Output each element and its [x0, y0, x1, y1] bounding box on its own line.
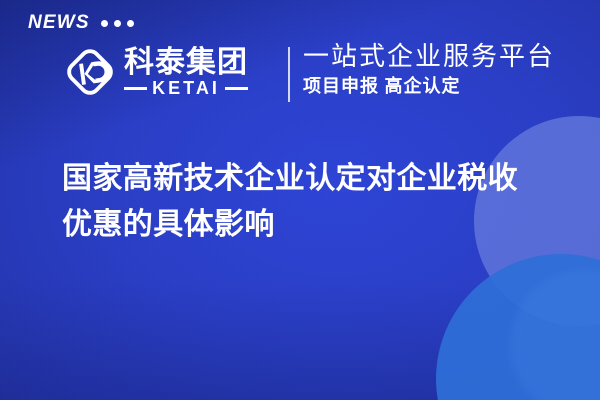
news-eyebrow: NEWS [28, 13, 134, 32]
headline: 国家高新技术企业认定对企业税收 优惠的具体影响 [62, 156, 552, 247]
wordmark-dash-right-icon [225, 87, 248, 90]
brand-name-cn: 科泰集团 [124, 47, 248, 79]
brand-wordmark: 科泰集团 KETAI [124, 47, 248, 98]
news-dot-icon [114, 20, 121, 27]
wordmark-dash-left-icon [124, 87, 147, 90]
news-dots-icon [101, 18, 134, 27]
tagline-sub: 项目申报 高企认定 [303, 76, 555, 98]
tagline-block: 一站式企业服务平台 项目申报 高企认定 [303, 42, 555, 97]
headline-line: 优惠的具体影响 [62, 202, 552, 248]
brand-divider [288, 47, 290, 102]
brand-lockup: 科泰集团 KETAI [62, 44, 248, 100]
ketai-diamond-kd-logo-icon [62, 44, 118, 100]
brand-name-en-row: KETAI [124, 79, 248, 97]
brand-name-en: KETAI [152, 79, 220, 97]
news-label: NEWS [28, 13, 90, 32]
headline-line: 国家高新技术企业认定对企业税收 [62, 156, 552, 202]
news-banner: NEWS 科泰集团 KETAI [0, 0, 600, 400]
news-dot-icon [101, 20, 108, 27]
tagline-main: 一站式企业服务平台 [303, 42, 555, 72]
news-dot-icon [127, 20, 134, 27]
